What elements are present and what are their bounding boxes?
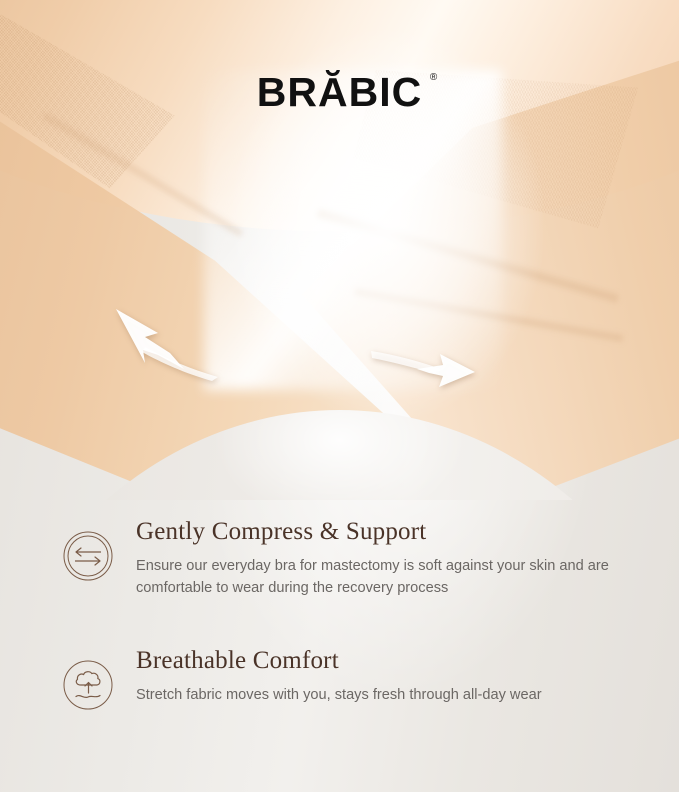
brand-logo: BRĂBIC ®	[0, 72, 679, 113]
feature-text-block: Gently Compress & Support Ensure our eve…	[136, 512, 639, 599]
feature-item: Breathable Comfort Stretch fabric moves …	[0, 641, 679, 711]
compression-arrow-left-icon	[112, 303, 222, 381]
feature-title: Breathable Comfort	[136, 645, 639, 677]
feature-description: Ensure our everyday bra for mastectomy i…	[136, 555, 614, 600]
registered-trademark-icon: ®	[430, 73, 437, 83]
feature-item: Gently Compress & Support Ensure our eve…	[0, 512, 679, 599]
compress-arrows-icon	[62, 530, 114, 582]
brand-logo-text: BRĂBIC	[257, 69, 422, 115]
feature-list: Gently Compress & Support Ensure our eve…	[0, 512, 679, 753]
brand-logo-wordmark: BRĂBIC ®	[257, 72, 422, 113]
breathable-cloud-icon	[62, 659, 114, 711]
product-marketing-image: BRĂBIC ® Gently Compress & Support Ensur…	[0, 0, 679, 792]
compression-arrow-right-icon	[371, 341, 477, 389]
feature-text-block: Breathable Comfort Stretch fabric moves …	[136, 641, 639, 706]
feature-title: Gently Compress & Support	[136, 516, 639, 548]
feature-description: Stretch fabric moves with you, stays fre…	[136, 684, 614, 706]
